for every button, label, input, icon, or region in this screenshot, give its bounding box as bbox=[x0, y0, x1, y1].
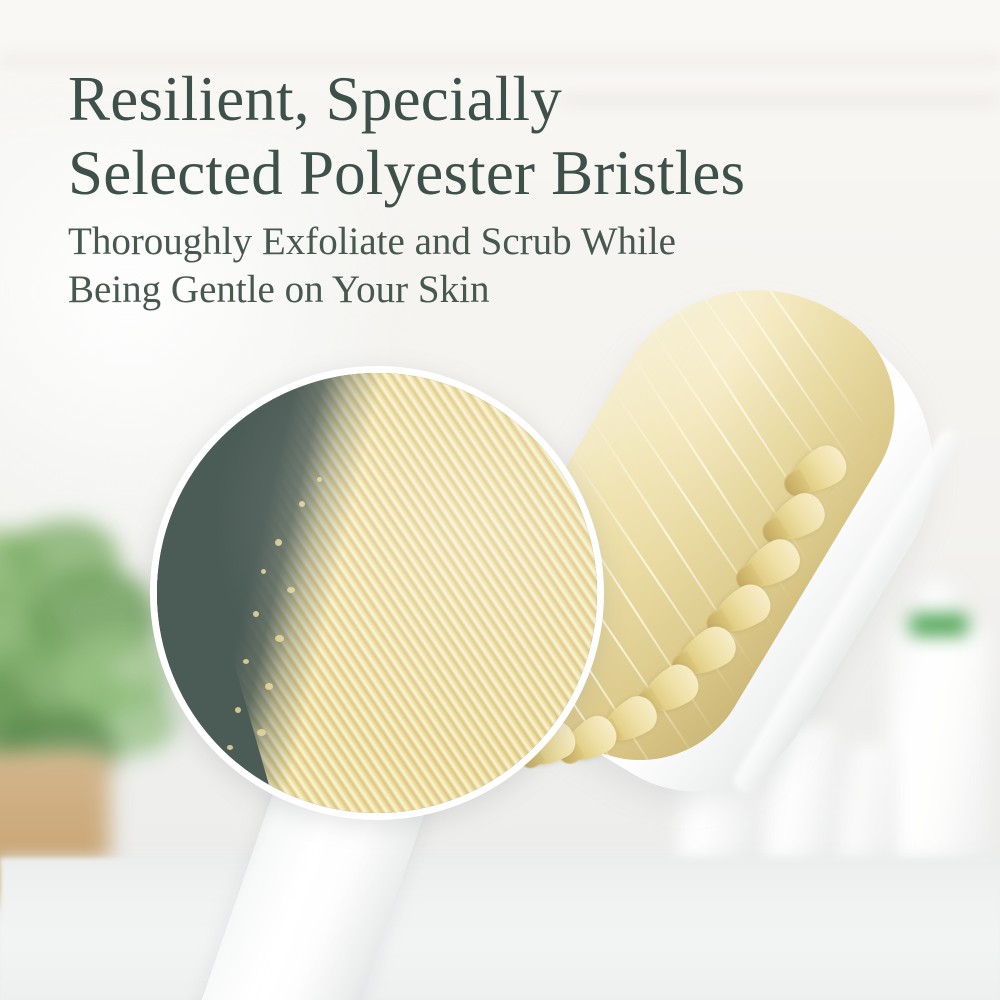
subheadline: Thoroughly Exfoliate and Scrub While Bei… bbox=[68, 218, 888, 314]
product-lifestyle-image: Resilient, Specially Selected Polyester … bbox=[0, 0, 1000, 1000]
magnified-bristle-inset bbox=[150, 366, 604, 820]
marketing-copy: Resilient, Specially Selected Polyester … bbox=[68, 62, 888, 314]
headline: Resilient, Specially Selected Polyester … bbox=[68, 62, 888, 210]
inset-sheen bbox=[157, 373, 597, 813]
